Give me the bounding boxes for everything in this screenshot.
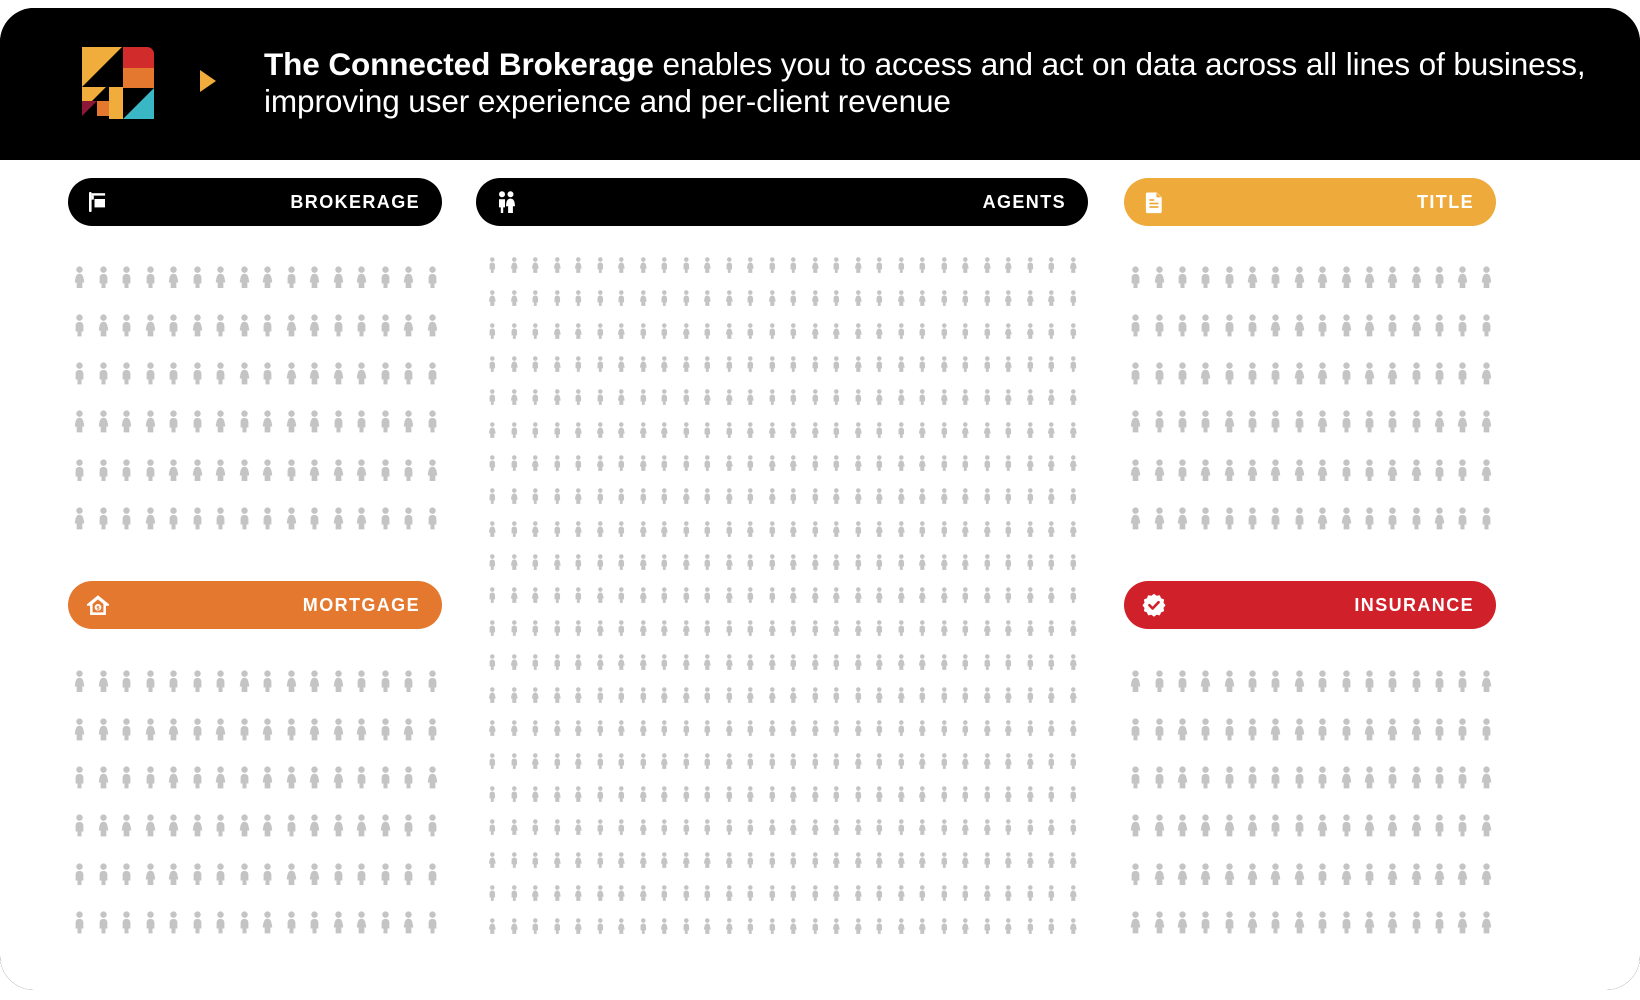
- person-icon-female: [724, 885, 735, 901]
- person-icon-female: [425, 459, 440, 482]
- person-icon-female: [530, 753, 541, 769]
- person-icon-female: [853, 852, 864, 868]
- person-icon-male: [939, 455, 950, 471]
- person-icon-female: [307, 766, 322, 789]
- headline-emphasis: The Connected Brokerage: [264, 46, 654, 82]
- person-icon-female: [72, 670, 87, 693]
- person-icon-female: [487, 720, 498, 736]
- person-icon-male: [1128, 362, 1143, 385]
- person-icon-male: [702, 587, 713, 603]
- person-icon-female: [896, 918, 907, 934]
- person-icon-female: [1455, 863, 1470, 886]
- person-icon-male: [487, 654, 498, 670]
- person-icon-male: [745, 753, 756, 769]
- person-icon-male: [425, 362, 440, 385]
- person-icon-male: [166, 507, 181, 530]
- person-icon-male: [659, 587, 670, 603]
- person-icon-female: [638, 620, 649, 636]
- person-icon-female: [401, 718, 416, 741]
- person-icon-male: [1339, 670, 1354, 693]
- person-icon-male: [702, 488, 713, 504]
- person-icon-male: [702, 885, 713, 901]
- person-icon-female: [810, 554, 821, 570]
- person-icon-female: [638, 885, 649, 901]
- person-icon-female: [788, 422, 799, 438]
- person-icon-female: [1292, 314, 1307, 337]
- person-icon-male: [425, 507, 440, 530]
- person-icon-female: [595, 521, 606, 537]
- person-icon-female: [425, 314, 440, 337]
- person-icon-female: [788, 687, 799, 703]
- person-icon-female: [681, 687, 692, 703]
- person-icon-male: [1455, 718, 1470, 741]
- svg-text:$: $: [96, 605, 100, 611]
- person-icon-female: [1025, 620, 1036, 636]
- person-icon-male: [1222, 362, 1237, 385]
- person-icon-female: [1479, 863, 1494, 886]
- person-icon-male: [401, 507, 416, 530]
- person-icon-female: [1268, 718, 1283, 741]
- person-icon-female: [831, 521, 842, 537]
- person-icon-male: [702, 521, 713, 537]
- person-icon-female: [853, 455, 864, 471]
- person-icon-female: [1003, 885, 1014, 901]
- person-icon-male: [331, 410, 346, 433]
- person-icon-male: [1222, 266, 1237, 289]
- infographic-canvas: The Connected Brokerage enables you to a…: [0, 0, 1640, 1000]
- person-icon-female: [767, 687, 778, 703]
- person-icon-male: [573, 587, 584, 603]
- person-icon-male: [939, 257, 950, 273]
- person-icon-female: [917, 455, 928, 471]
- person-icon-female: [509, 720, 520, 736]
- person-icon-female: [853, 819, 864, 835]
- person-icon-female: [307, 362, 322, 385]
- person-icon-female: [982, 885, 993, 901]
- person-icon-female: [331, 507, 346, 530]
- person-icon-male: [401, 670, 416, 693]
- person-icon-male: [1003, 455, 1014, 471]
- person-icon-male: [616, 521, 627, 537]
- person-icon-male: [1432, 766, 1447, 789]
- person-icon-male: [260, 863, 275, 886]
- person-icon-female: [96, 670, 111, 693]
- person-icon-male: [831, 422, 842, 438]
- person-icon-female: [552, 720, 563, 736]
- person-icon-female: [788, 819, 799, 835]
- person-icon-female: [96, 766, 111, 789]
- person-icon-male: [378, 266, 393, 289]
- person-icon-female: [1128, 507, 1143, 530]
- person-icon-male: [1315, 718, 1330, 741]
- person-icon-female: [1362, 911, 1377, 934]
- person-icon-male: [487, 620, 498, 636]
- person-icon-male: [1455, 507, 1470, 530]
- person-icon-male: [1046, 257, 1057, 273]
- person-icon-male: [1025, 488, 1036, 504]
- person-icon-male: [119, 266, 134, 289]
- person-icon-female: [1068, 389, 1079, 405]
- person-icon-male: [982, 786, 993, 802]
- person-icon-male: [767, 257, 778, 273]
- person-icon-female: [1003, 687, 1014, 703]
- person-icon-female: [96, 814, 111, 837]
- person-icon-female: [659, 620, 670, 636]
- person-icon-male: [1025, 885, 1036, 901]
- person-icon-male: [72, 459, 87, 482]
- person-icon-male: [509, 852, 520, 868]
- person-icon-female: [724, 455, 735, 471]
- person-icon-male: [896, 620, 907, 636]
- person-icon-male: [378, 507, 393, 530]
- person-icon-male: [939, 852, 950, 868]
- section-header-brokerage[interactable]: BROKERAGE: [68, 178, 442, 226]
- person-icon-male: [702, 422, 713, 438]
- person-icon-male: [767, 356, 778, 372]
- person-icon-female: [1046, 852, 1057, 868]
- person-icon-female: [1292, 266, 1307, 289]
- person-icon-female: [509, 488, 520, 504]
- person-icon-female: [1479, 266, 1494, 289]
- person-icon-female: [1046, 488, 1057, 504]
- person-icon-female: [284, 766, 299, 789]
- person-icon-male: [1152, 766, 1167, 789]
- person-icon-female: [119, 410, 134, 433]
- person-icon-male: [702, 455, 713, 471]
- person-icon-female: [487, 852, 498, 868]
- person-icon-female: [917, 819, 928, 835]
- person-icon-male: [143, 911, 158, 934]
- person-icon-male: [595, 720, 606, 736]
- person-icon-female: [724, 587, 735, 603]
- person-icon-male: [831, 654, 842, 670]
- person-icon-male: [190, 863, 205, 886]
- person-icon-male: [788, 389, 799, 405]
- person-icon-male: [1068, 753, 1079, 769]
- person-icon-male: [1268, 911, 1283, 934]
- person-icon-male: [552, 918, 563, 934]
- person-icon-male: [831, 356, 842, 372]
- person-icon-male: [190, 507, 205, 530]
- person-icon-female: [1245, 863, 1260, 886]
- person-icon-female: [1222, 670, 1237, 693]
- person-icon-female: [1268, 314, 1283, 337]
- person-icon-male: [119, 718, 134, 741]
- person-icon-female: [1222, 459, 1237, 482]
- person-icon-female: [1222, 814, 1237, 837]
- person-icon-male: [1315, 863, 1330, 886]
- person-icon-female: [1385, 718, 1400, 741]
- person-icon-female: [354, 362, 369, 385]
- person-icon-male: [72, 314, 87, 337]
- person-icon-female: [745, 389, 756, 405]
- person-icon-female: [638, 720, 649, 736]
- section-header-mortgage[interactable]: $ MORTGAGE: [68, 581, 442, 629]
- person-icon-male: [237, 766, 252, 789]
- person-icon-male: [1362, 863, 1377, 886]
- person-icon-female: [702, 852, 713, 868]
- person-icon-male: [1245, 718, 1260, 741]
- person-icon-female: [284, 507, 299, 530]
- person-icon-female: [1003, 852, 1014, 868]
- person-icon-male: [260, 670, 275, 693]
- person-icon-male: [1362, 670, 1377, 693]
- person-icon-female: [166, 718, 181, 741]
- person-icon-male: [530, 554, 541, 570]
- person-icon-female: [810, 422, 821, 438]
- person-icon-male: [119, 766, 134, 789]
- person-icon-male: [237, 911, 252, 934]
- person-icon-male: [1003, 554, 1014, 570]
- person-icon-female: [939, 587, 950, 603]
- person-icon-male: [831, 389, 842, 405]
- section-header-agents[interactable]: AGENTS: [476, 178, 1088, 226]
- person-icon-female: [1409, 814, 1424, 837]
- person-icon-male: [982, 918, 993, 934]
- person-icon-male: [1362, 459, 1377, 482]
- person-icon-male: [1198, 911, 1213, 934]
- person-icon-female: [874, 786, 885, 802]
- person-icon-female: [354, 718, 369, 741]
- person-icon-female: [284, 362, 299, 385]
- person-icon-female: [853, 654, 864, 670]
- person-icon-male: [939, 753, 950, 769]
- person-icon-female: [1432, 410, 1447, 433]
- logo-shape-teal-triangle: [123, 88, 154, 119]
- person-icon-male: [681, 389, 692, 405]
- person-icon-male: [1339, 911, 1354, 934]
- person-icon-male: [96, 459, 111, 482]
- person-icon-male: [1455, 314, 1470, 337]
- person-icon-male: [487, 753, 498, 769]
- person-icon-male: [166, 670, 181, 693]
- person-icon-female: [1409, 459, 1424, 482]
- person-icon-male: [917, 323, 928, 339]
- person-icon-female: [616, 885, 627, 901]
- person-icon-female: [917, 587, 928, 603]
- person-icon-female: [745, 687, 756, 703]
- person-icon-male: [1198, 410, 1213, 433]
- person-icon-male: [1385, 670, 1400, 693]
- person-icon-female: [1315, 266, 1330, 289]
- person-icon-male: [745, 587, 756, 603]
- person-icon-female: [874, 521, 885, 537]
- person-icon-male: [874, 753, 885, 769]
- person-icon-male: [213, 507, 228, 530]
- person-icon-female: [143, 863, 158, 886]
- person-icon-male: [745, 720, 756, 736]
- person-icon-female: [1479, 459, 1494, 482]
- person-icon-female: [659, 687, 670, 703]
- person-icon-male: [552, 422, 563, 438]
- person-icon-male: [659, 389, 670, 405]
- person-icon-female: [1046, 422, 1057, 438]
- person-icon-female: [530, 687, 541, 703]
- person-icon-male: [917, 257, 928, 273]
- person-icon-female: [1409, 863, 1424, 886]
- person-icon-male: [724, 786, 735, 802]
- person-icon-male: [1268, 670, 1283, 693]
- for-sale-sign-icon: [84, 188, 112, 216]
- person-icon-female: [616, 720, 627, 736]
- person-icon-female: [810, 720, 821, 736]
- person-icon-male: [767, 554, 778, 570]
- person-icon-male: [1222, 718, 1237, 741]
- person-icon-male: [788, 753, 799, 769]
- person-icon-male: [552, 455, 563, 471]
- person-icon-female: [745, 654, 756, 670]
- person-icon-male: [509, 885, 520, 901]
- person-icon-male: [1046, 654, 1057, 670]
- person-icon-male: [1479, 718, 1494, 741]
- person-icon-male: [982, 323, 993, 339]
- person-icon-female: [143, 507, 158, 530]
- person-icon-female: [853, 918, 864, 934]
- person-icon-female: [284, 863, 299, 886]
- person-icon-female: [1385, 863, 1400, 886]
- person-icon-female: [1339, 507, 1354, 530]
- person-icon-female: [237, 459, 252, 482]
- person-icon-male: [378, 459, 393, 482]
- person-icon-male: [1175, 314, 1190, 337]
- person-icon-female: [307, 266, 322, 289]
- person-icon-female: [1455, 911, 1470, 934]
- person-icon-male: [1339, 814, 1354, 837]
- person-icon-male: [1432, 814, 1447, 837]
- person-icon-female: [1025, 852, 1036, 868]
- person-icon-male: [1409, 410, 1424, 433]
- person-icon-female: [982, 687, 993, 703]
- two-people-icon: [492, 188, 520, 216]
- person-icon-female: [530, 521, 541, 537]
- person-icon-female: [530, 257, 541, 273]
- person-icon-female: [1003, 257, 1014, 273]
- person-icon-male: [960, 290, 971, 306]
- person-icon-female: [896, 521, 907, 537]
- person-icon-male: [724, 356, 735, 372]
- person-icon-female: [1025, 753, 1036, 769]
- person-icon-female: [638, 852, 649, 868]
- person-icon-female: [1152, 863, 1167, 886]
- person-icon-male: [1245, 362, 1260, 385]
- person-icon-male: [1432, 266, 1447, 289]
- person-icon-female: [874, 389, 885, 405]
- section-header-insurance[interactable]: INSURANCE: [1124, 581, 1496, 629]
- person-icon-male: [982, 356, 993, 372]
- person-icon-male: [190, 362, 205, 385]
- person-icon-female: [96, 718, 111, 741]
- person-icon-female: [1479, 410, 1494, 433]
- person-icon-female: [1046, 587, 1057, 603]
- person-icon-female: [788, 587, 799, 603]
- person-icon-female: [1455, 410, 1470, 433]
- person-icon-male: [702, 356, 713, 372]
- person-icon-female: [853, 587, 864, 603]
- person-icon-female: [1025, 323, 1036, 339]
- person-icon-male: [1025, 918, 1036, 934]
- person-icon-male: [143, 266, 158, 289]
- person-icon-female: [767, 620, 778, 636]
- person-icon-male: [1025, 356, 1036, 372]
- section-header-title[interactable]: TITLE: [1124, 178, 1496, 226]
- person-icon-female: [638, 554, 649, 570]
- person-icon-male: [595, 488, 606, 504]
- person-icon-male: [659, 488, 670, 504]
- person-icon-male: [616, 488, 627, 504]
- person-icon-male: [1222, 911, 1237, 934]
- person-icon-female: [896, 786, 907, 802]
- person-icon-male: [284, 718, 299, 741]
- person-icon-male: [530, 620, 541, 636]
- person-icon-female: [190, 314, 205, 337]
- person-icon-female: [745, 786, 756, 802]
- person-icon-female: [702, 389, 713, 405]
- person-icon-male: [896, 257, 907, 273]
- person-icon-female: [917, 720, 928, 736]
- person-icon-male: [72, 863, 87, 886]
- person-icon-female: [788, 918, 799, 934]
- person-icon-male: [681, 290, 692, 306]
- person-icon-female: [616, 389, 627, 405]
- logo-shape-red-block: [123, 47, 154, 68]
- person-icon-male: [874, 620, 885, 636]
- person-icon-female: [401, 266, 416, 289]
- person-icon-female: [1003, 356, 1014, 372]
- person-icon-female: [1479, 362, 1494, 385]
- person-icon-male: [237, 410, 252, 433]
- person-icon-male: [284, 459, 299, 482]
- person-icon-female: [745, 422, 756, 438]
- person-icon-male: [1198, 718, 1213, 741]
- person-icon-male: [509, 323, 520, 339]
- person-icon-male: [1268, 266, 1283, 289]
- person-icon-male: [1339, 718, 1354, 741]
- person-icon-female: [530, 786, 541, 802]
- logo-shape-maroon-triangle: [82, 101, 97, 116]
- person-icon-female: [982, 720, 993, 736]
- person-icon-female: [1292, 362, 1307, 385]
- person-icon-female: [487, 290, 498, 306]
- logo-shape-amber-triangle-large: [82, 47, 122, 87]
- person-icon-female: [896, 687, 907, 703]
- person-icon-male: [595, 554, 606, 570]
- person-icon-female: [767, 290, 778, 306]
- person-icon-female: [1362, 266, 1377, 289]
- person-icon-male: [1385, 314, 1400, 337]
- person-icon-female: [72, 410, 87, 433]
- person-icon-female: [896, 852, 907, 868]
- person-icon-male: [72, 766, 87, 789]
- person-icon-female: [1292, 863, 1307, 886]
- person-icon-male: [659, 819, 670, 835]
- person-icon-male: [96, 507, 111, 530]
- person-icon-female: [724, 323, 735, 339]
- person-icon-female: [1068, 654, 1079, 670]
- person-icon-male: [939, 290, 950, 306]
- person-icon-male: [681, 819, 692, 835]
- person-icon-male: [1068, 290, 1079, 306]
- person-icon-female: [853, 422, 864, 438]
- person-icon-female: [638, 654, 649, 670]
- person-icon-female: [1025, 290, 1036, 306]
- person-icon-male: [681, 257, 692, 273]
- person-icon-male: [487, 356, 498, 372]
- person-icon-female: [1068, 455, 1079, 471]
- person-icon-male: [354, 863, 369, 886]
- section-label-mortgage: MORTGAGE: [303, 595, 420, 616]
- person-icon-male: [960, 620, 971, 636]
- person-icon-male: [745, 323, 756, 339]
